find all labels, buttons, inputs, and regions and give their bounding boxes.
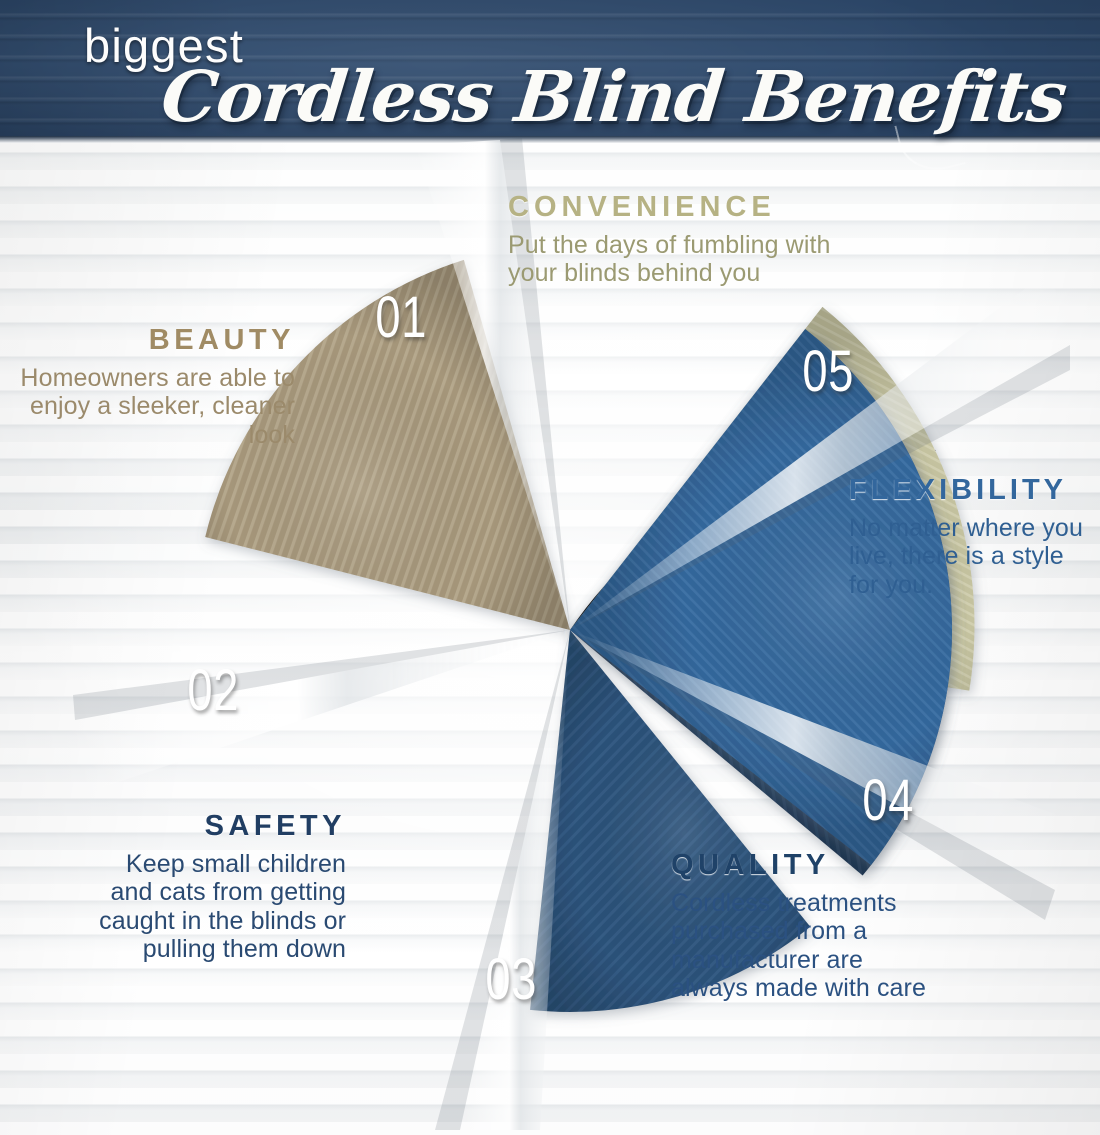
- benefit-heading-safety: SAFETY: [80, 812, 346, 841]
- benefit-block-beauty: BEAUTY Homeowners are able to enjoy a sl…: [20, 326, 295, 449]
- benefit-heading-convenience: CONVENIENCE: [508, 193, 868, 222]
- infographic-canvas: biggest Cordless Blind Benefits: [0, 0, 1100, 1135]
- wedge-number-05: 05: [802, 343, 854, 401]
- benefit-block-quality: QUALITY Cordless treatments purchased fr…: [671, 851, 931, 1002]
- benefit-block-convenience: CONVENIENCE Put the days of fumbling wit…: [508, 193, 868, 288]
- benefit-heading-flexibility: FLEXIBILITY: [849, 476, 1099, 505]
- benefit-body-safety: Keep small children and cats from gettin…: [80, 850, 346, 963]
- benefit-body-flexibility: No matter where you live, there is a sty…: [849, 514, 1099, 599]
- benefit-block-flexibility: FLEXIBILITY No matter where you live, th…: [849, 476, 1099, 599]
- wedge-number-03: 03: [485, 951, 537, 1009]
- wedge-number-04: 04: [862, 772, 914, 830]
- page-title: Cordless Blind Benefits: [158, 62, 1069, 132]
- benefit-block-safety: SAFETY Keep small children and cats from…: [80, 812, 346, 963]
- benefit-body-convenience: Put the days of fumbling with your blind…: [508, 231, 868, 288]
- benefit-body-beauty: Homeowners are able to enjoy a sleeker, …: [20, 364, 295, 449]
- benefit-heading-quality: QUALITY: [671, 851, 931, 880]
- benefit-body-quality: Cordless treatments purchased from a man…: [671, 889, 931, 1002]
- benefit-heading-beauty: BEAUTY: [20, 326, 295, 355]
- wedge-number-01: 01: [375, 289, 427, 347]
- wedge-number-02: 02: [187, 662, 239, 720]
